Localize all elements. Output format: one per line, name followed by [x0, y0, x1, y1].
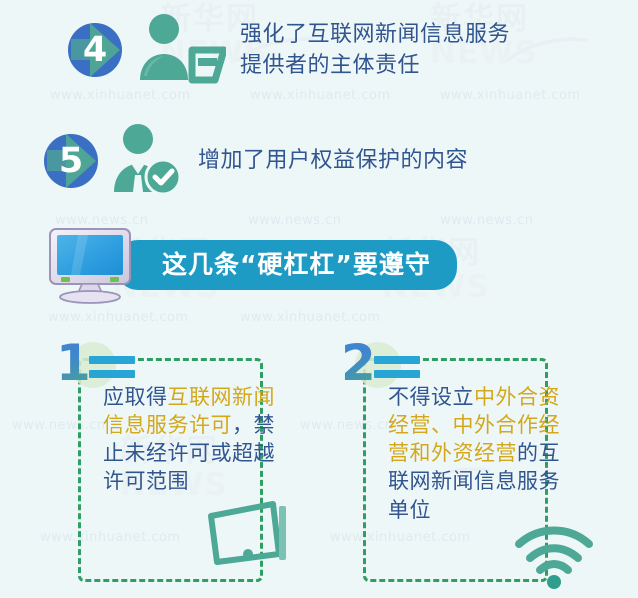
- badge-bar: [89, 356, 135, 364]
- rule-number-badge-2: 2: [341, 342, 433, 396]
- rule-card-1-text: 应取得互联网新闻信息服务许可，禁止未经许可或超越许可范围: [103, 383, 278, 496]
- watermark-url: www.xinhuanet.com: [250, 88, 391, 103]
- number-badge-4: 4: [68, 20, 128, 80]
- badge-number: 5: [44, 134, 98, 188]
- rule-number: 1: [56, 338, 91, 388]
- wifi-icon: [513, 524, 595, 592]
- list-item-line: 增加了用户权益保护的内容: [198, 145, 468, 176]
- number-badge-5: 5: [44, 131, 104, 191]
- businessman-check-icon: [106, 122, 184, 200]
- list-item-text: 强化了互联网新闻信息服务 提供者的主体责任: [240, 19, 510, 81]
- rule-card-2-text: 不得设立中外合资经营、中外合作经营和外资经营的互联网新闻信息服务单位: [388, 383, 563, 524]
- watermark-url: www.xinhuanet.com: [440, 88, 581, 103]
- list-item-text: 增加了用户权益保护的内容: [198, 145, 468, 176]
- tablet-screen-icon: [205, 498, 291, 572]
- badge-bar: [374, 356, 420, 364]
- badge-bar: [89, 370, 135, 378]
- list-item-line: 强化了互联网新闻信息服务: [240, 19, 510, 50]
- badge-number: 4: [68, 23, 122, 77]
- watermark-url: www.xinhuanet.com: [48, 310, 189, 325]
- list-item: 5 增加了用户权益保护的内容: [44, 122, 468, 200]
- watermark-swoosh: [494, 28, 606, 96]
- watermark-url: www.xinhuanet.com: [240, 310, 381, 325]
- infographic-canvas: 新华网 NEWS 新华网 NEWS www.xinhuanet.com www.…: [0, 0, 638, 598]
- banner-title: 这几条“硬杠杠”要遵守: [116, 240, 457, 290]
- badge-bar: [374, 370, 420, 378]
- watermark-url: www.xinhuanet.com: [50, 88, 191, 103]
- section-banner: 这几条“硬杠杠”要遵守: [46, 226, 457, 304]
- list-item: 4 强化了互联网新闻信息服务 提供者的主体责任: [68, 10, 510, 90]
- rule-number: 2: [341, 338, 376, 388]
- desktop-monitor-icon: [46, 226, 138, 304]
- rule-number-badge-1: 1: [56, 342, 148, 396]
- person-at-desk-icon: [130, 10, 226, 90]
- list-item-line: 提供者的主体责任: [240, 50, 510, 81]
